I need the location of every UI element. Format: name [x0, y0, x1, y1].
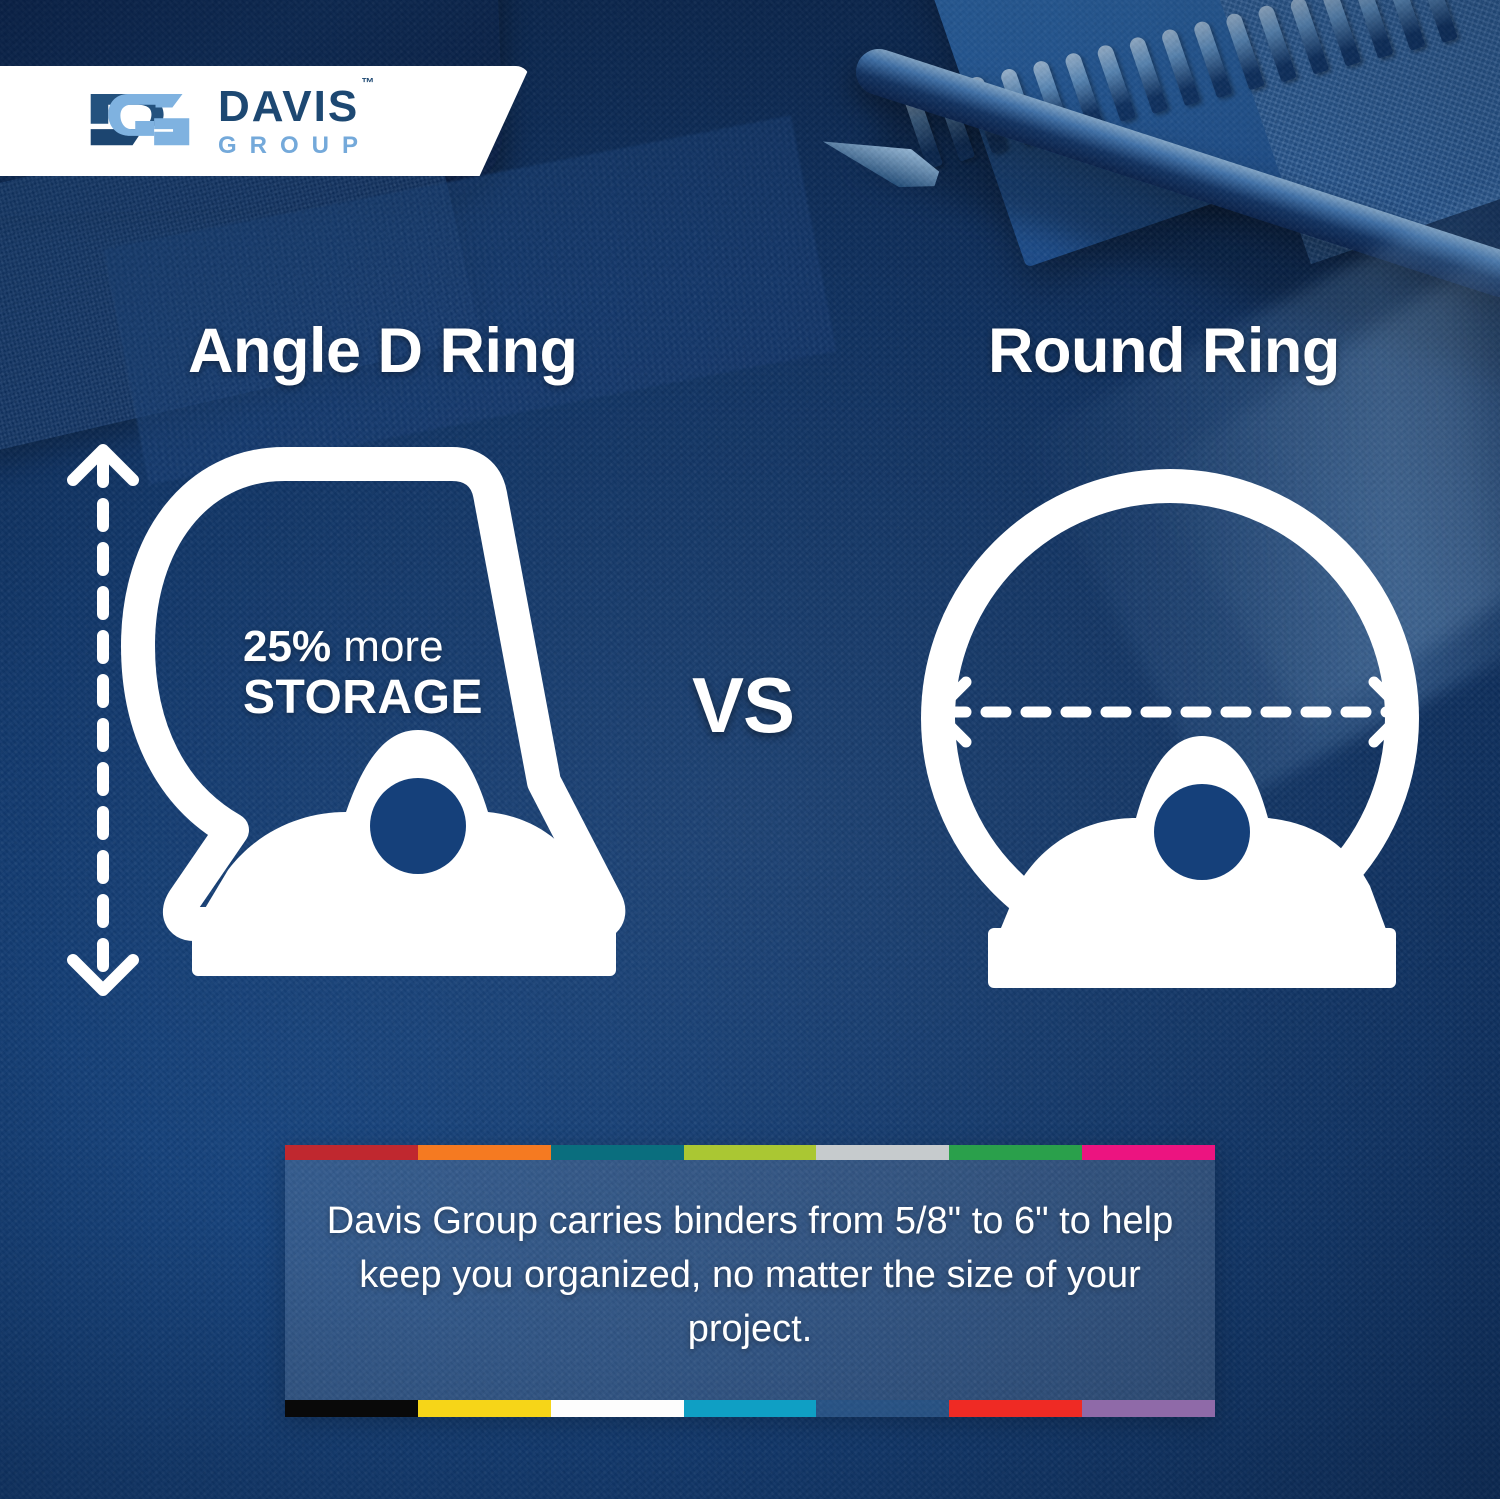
heading-round-ring: Round Ring [988, 315, 1340, 387]
brand-name-secondary: GROUP [218, 134, 372, 158]
panel-top-color-stripes [285, 1145, 1215, 1160]
storage-callout-line-1: 25% more [243, 625, 503, 670]
trademark-symbol: ™ [361, 75, 374, 90]
panel-description-text: Davis Group carries binders from 5/8" to… [285, 1195, 1215, 1357]
color-stripe-orange [418, 1145, 551, 1160]
infographic-canvas: DAVIS™ GROUP Angle D Ring Round Ring 25%… [0, 0, 1500, 1499]
color-stripe-lime [684, 1145, 817, 1160]
heading-angle-d-ring: Angle D Ring [188, 315, 577, 387]
dg-monogram-icon [88, 86, 196, 156]
color-stripe-silver [816, 1145, 949, 1160]
panel-bottom-color-stripes [285, 1400, 1215, 1417]
brand-logo-banner: DAVIS™ GROUP [0, 66, 530, 176]
brand-name-primary: DAVIS™ [218, 85, 372, 129]
versus-label: VS [692, 660, 794, 751]
color-stripe-black [285, 1400, 418, 1417]
color-stripe-crimson [285, 1145, 418, 1160]
color-stripe-green [949, 1145, 1082, 1160]
storage-callout-line-2: STORAGE [243, 674, 503, 723]
color-stripe-purple [1082, 1400, 1215, 1417]
color-stripe-red [949, 1400, 1082, 1417]
info-panel: Davis Group carries binders from 5/8" to… [285, 1145, 1215, 1417]
round-ring-diagram [900, 430, 1460, 1010]
color-stripe-teal [551, 1145, 684, 1160]
color-stripe-cyan [684, 1400, 817, 1417]
storage-callout: 25% more STORAGE [243, 625, 503, 723]
color-stripe-magenta [1082, 1145, 1215, 1160]
color-stripe-white [551, 1400, 684, 1417]
color-stripe-blue-transparent [816, 1400, 949, 1417]
color-stripe-yellow [418, 1400, 551, 1417]
